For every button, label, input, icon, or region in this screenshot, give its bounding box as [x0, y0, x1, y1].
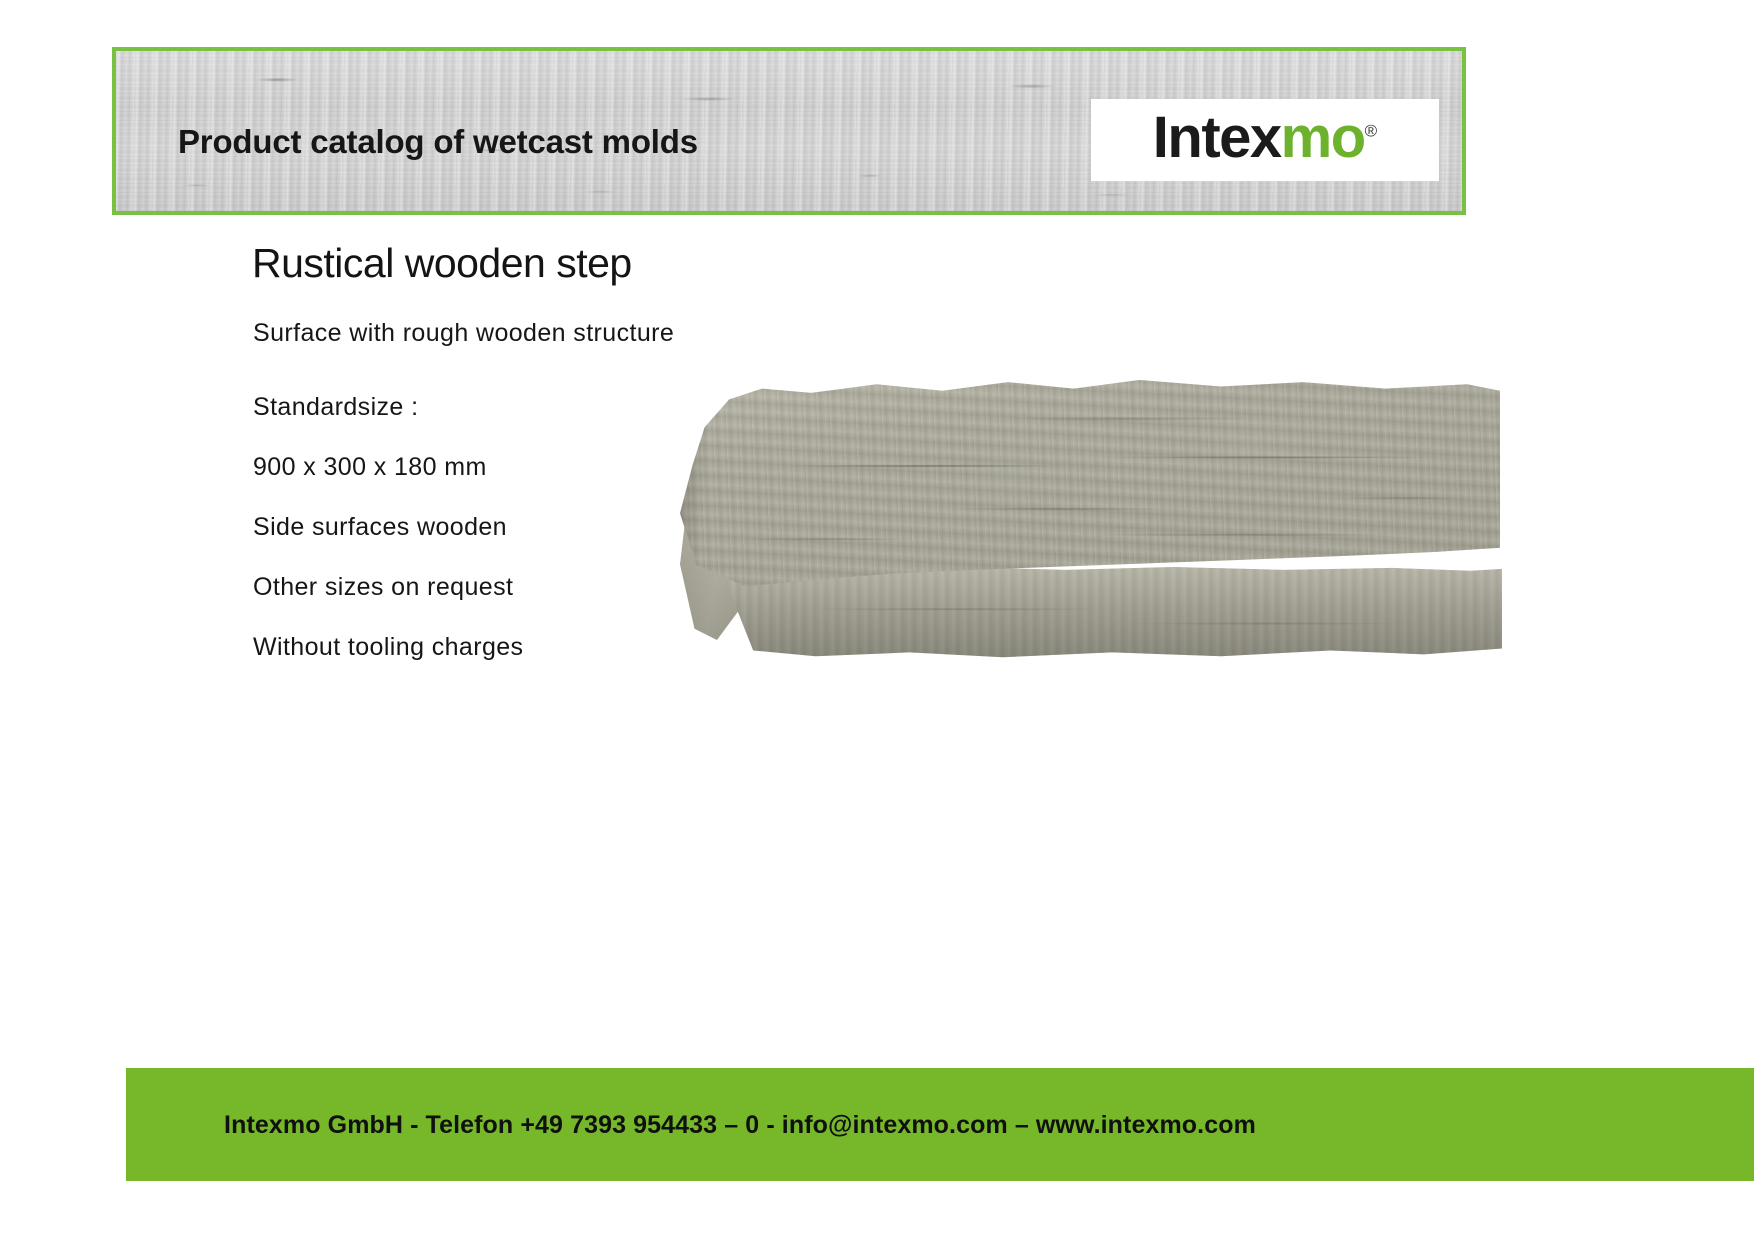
- spec-item: Surface with rough wooden structure: [253, 319, 674, 348]
- footer-band: Intexmo GmbH - Telefon +49 7393 954433 –…: [126, 1068, 1754, 1181]
- main-content: Rustical wooden step Surface with rough …: [0, 215, 1754, 1065]
- spec-item: 900 x 300 x 180 mm: [253, 453, 487, 482]
- product-photo: [680, 380, 1520, 700]
- spec-item: Other sizes on request: [253, 573, 513, 602]
- logo-text-green: mo: [1281, 105, 1365, 170]
- page-title: Product catalog of wetcast molds: [178, 123, 698, 161]
- product-title: Rustical wooden step: [252, 240, 632, 287]
- registered-trademark-icon: ®: [1365, 122, 1378, 141]
- header-band: Product catalog of wetcast molds Intexmo…: [112, 47, 1466, 215]
- logo-text: Intexmo®: [1153, 109, 1377, 167]
- block-front-face: [722, 566, 1502, 662]
- brand-logo: Intexmo®: [1091, 99, 1439, 181]
- logo-text-dark: Intex: [1153, 105, 1281, 170]
- spec-item: Side surfaces wooden: [253, 513, 507, 542]
- footer-contact-text: Intexmo GmbH - Telefon +49 7393 954433 –…: [126, 1111, 1354, 1140]
- block-top-face: [680, 380, 1500, 595]
- page-canvas: Product catalog of wetcast molds Intexmo…: [0, 0, 1754, 1240]
- spec-item: Without tooling charges: [253, 633, 523, 662]
- spec-item: Standardsize :: [253, 393, 418, 422]
- wooden-step-block-illustration: [680, 380, 1520, 700]
